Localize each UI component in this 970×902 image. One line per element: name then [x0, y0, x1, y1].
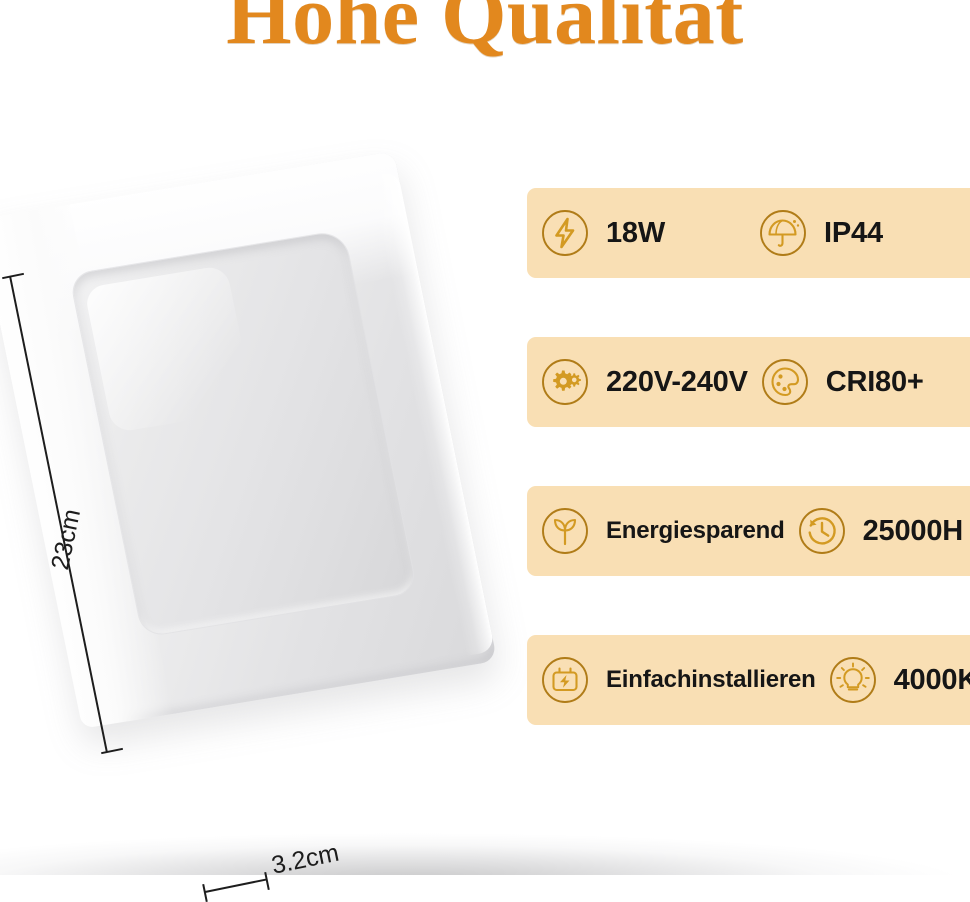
- gears-icon: [540, 357, 590, 407]
- led-panel-product: [0, 151, 497, 728]
- spec-label: 220V-240V: [606, 366, 748, 399]
- spec-item-lifetime: 25000H: [797, 506, 963, 556]
- spec-label: 4000K: [894, 664, 970, 697]
- spec-label: 18W: [606, 217, 665, 250]
- spec-label: Energiesparend: [606, 517, 785, 545]
- spec-item-power: 18W: [540, 208, 665, 258]
- umbrella-rain-icon: [758, 208, 808, 258]
- depth-dimension-line: [205, 878, 267, 892]
- depth-dimension-label: 3.2cm: [269, 839, 342, 881]
- spec-row: Energiesparend 25000H: [527, 486, 970, 576]
- page-title: Hohe Qualität: [0, 0, 970, 58]
- product-illustration: 23cm 3.2cm: [0, 150, 500, 790]
- leaf-sprout-icon: [540, 506, 590, 556]
- spec-item-ip-rating: IP44: [758, 208, 883, 258]
- panel-gloss-highlight: [83, 265, 255, 433]
- lightbulb-icon: [828, 655, 878, 705]
- spec-item-installation: Einfachinstallieren: [540, 655, 816, 705]
- spec-item-energy-saving: Energiesparend: [540, 506, 785, 556]
- color-swatch-icon: [760, 357, 810, 407]
- spec-item-color-temperature: 4000K: [828, 655, 970, 705]
- lightning-bolt-icon: [540, 208, 590, 258]
- specification-list: 18W IP44: [527, 188, 970, 725]
- panel-body: [0, 151, 497, 728]
- spec-label: IP44: [824, 217, 883, 250]
- spec-label: CRI80+: [826, 366, 924, 399]
- spec-item-cri: CRI80+: [760, 357, 924, 407]
- clock-history-icon: [797, 506, 847, 556]
- spec-item-voltage: 220V-240V: [540, 357, 748, 407]
- spec-row: 220V-240V CRI80+: [527, 337, 970, 427]
- spec-label: 25000H: [863, 515, 963, 548]
- spec-row: Einfachinstallieren 4000K: [527, 635, 970, 725]
- spec-label: Einfachinstallieren: [606, 666, 816, 694]
- battery-power-icon: [540, 655, 590, 705]
- depth-dimension-cap-left: [202, 884, 207, 902]
- floor-shadow: [0, 815, 970, 875]
- spec-row: 18W IP44: [527, 188, 970, 278]
